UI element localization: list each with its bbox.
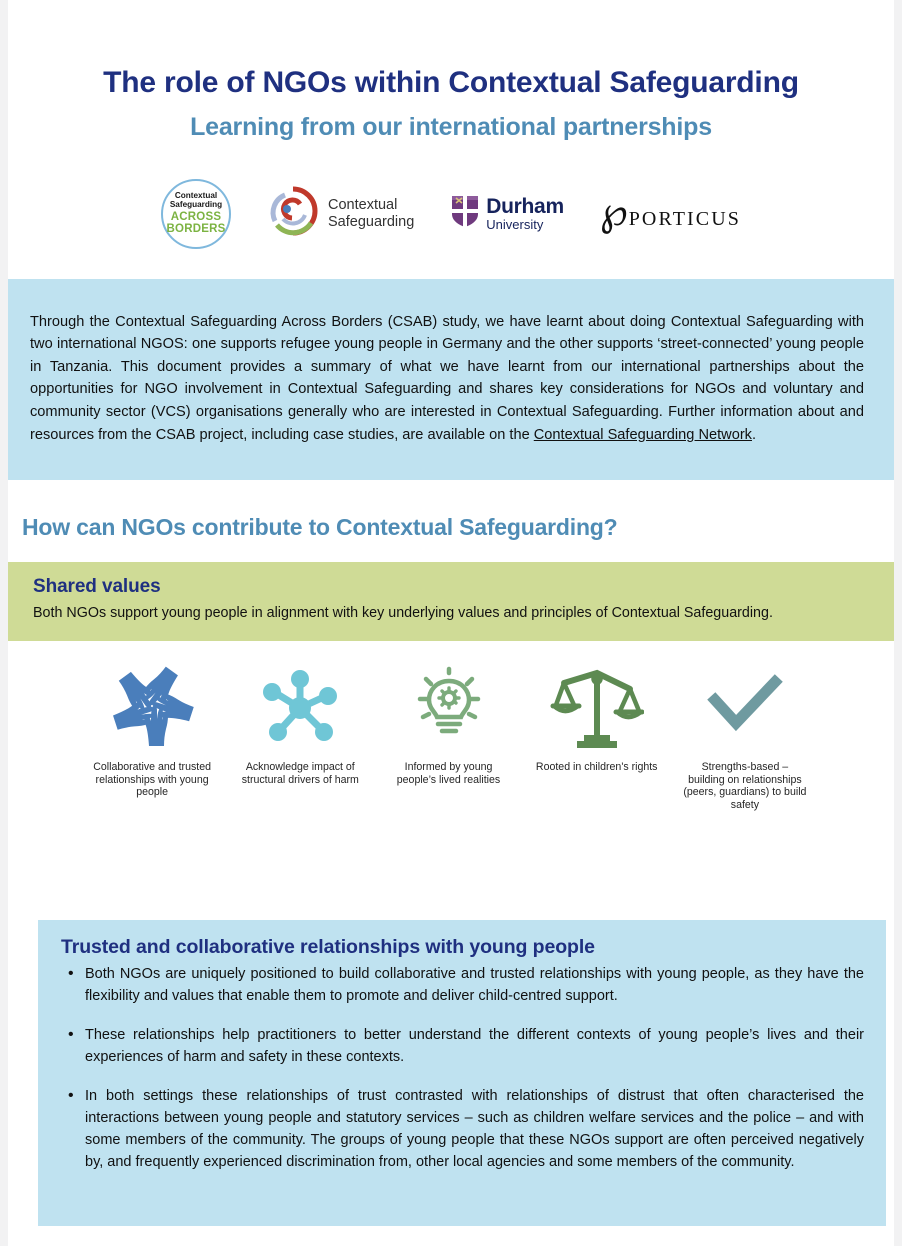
csab-line-3: ACROSS <box>171 211 221 223</box>
checkmark-icon <box>705 657 785 755</box>
partner-logos: Contextual Safeguarding ACROSS BORDERS C… <box>8 168 894 260</box>
page-title: The role of NGOs within Contextual Safeg… <box>8 66 894 101</box>
value-icons-row: Collaborative and trusted relationships … <box>8 657 894 813</box>
shared-values-band: Shared values Both NGOs support young pe… <box>8 562 894 640</box>
intro-paragraph: Through the Contextual Safeguarding Acro… <box>30 311 864 447</box>
value-icon-label: Strengths-based – building on relationsh… <box>682 761 807 813</box>
list-item: Both NGOs are uniquely positioned to bui… <box>56 963 864 1007</box>
value-icon-item: Acknowledge impact of structural drivers… <box>226 657 374 787</box>
lightbulb-gear-icon <box>406 657 492 755</box>
durham-line-2: University <box>486 218 564 232</box>
list-item: These relationships help practitioners t… <box>56 1024 864 1068</box>
scales-of-justice-icon <box>550 657 644 755</box>
document-header: The role of NGOs within Contextual Safeg… <box>8 0 894 142</box>
porticus-mark-icon: ℘ <box>600 196 628 228</box>
list-item: In both settings these relationships of … <box>56 1085 864 1173</box>
contextual-safeguarding-swirl-icon <box>267 185 319 242</box>
durham-wordmark: Durham University <box>486 196 564 232</box>
value-icon-label: Rooted in children's rights <box>536 761 658 774</box>
trusted-relationships-title: Trusted and collaborative relationships … <box>56 936 864 959</box>
shared-values-text: Both NGOs support young people in alignm… <box>33 603 793 624</box>
hands-circle-icon <box>106 657 198 755</box>
value-icon-label: Collaborative and trusted relationships … <box>90 761 215 800</box>
section-heading: How can NGOs contribute to Contextual Sa… <box>8 514 894 541</box>
value-icon-item: Rooted in children's rights <box>523 657 671 774</box>
cs-line-2: Safeguarding <box>328 214 414 230</box>
contextual-safeguarding-wordmark: Contextual Safeguarding <box>328 197 414 229</box>
csab-line-4: BORDERS <box>167 223 226 235</box>
csab-line-2: Safeguarding <box>170 201 222 210</box>
porticus-logo: ℘ PORTICUS <box>600 196 741 231</box>
value-icon-item: Collaborative and trusted relationships … <box>78 657 226 800</box>
page-subtitle: Learning from our international partners… <box>8 113 894 142</box>
trusted-relationships-box: Trusted and collaborative relationships … <box>38 920 886 1226</box>
csab-logo: Contextual Safeguarding ACROSS BORDERS <box>161 179 231 249</box>
value-icon-item: Informed by young people’s lived realiti… <box>374 657 522 787</box>
intro-text-before-link: Through the Contextual Safeguarding Acro… <box>30 314 864 443</box>
porticus-wordmark: PORTICUS <box>629 208 741 231</box>
value-icon-label: Informed by young people’s lived realiti… <box>386 761 511 787</box>
value-icon-item: Strengths-based – building on relationsh… <box>671 657 819 813</box>
contextual-safeguarding-logo: Contextual Safeguarding <box>267 185 414 242</box>
document-page: The role of NGOs within Contextual Safeg… <box>8 0 894 1246</box>
durham-line-1: Durham <box>486 196 564 218</box>
cs-line-1: Contextual <box>328 197 414 213</box>
shared-values-title: Shared values <box>33 576 874 598</box>
durham-shield-icon <box>450 194 480 233</box>
intro-text-after-link: . <box>752 427 756 443</box>
intro-band: Through the Contextual Safeguarding Acro… <box>8 279 894 481</box>
csab-badge: Contextual Safeguarding ACROSS BORDERS <box>161 179 231 249</box>
durham-university-logo: Durham University <box>450 194 564 233</box>
trusted-relationships-list: Both NGOs are uniquely positioned to bui… <box>56 963 864 1173</box>
network-hub-icon <box>258 657 342 755</box>
contextual-safeguarding-network-link[interactable]: Contextual Safeguarding Network <box>534 427 752 443</box>
value-icon-label: Acknowledge impact of structural drivers… <box>238 761 363 787</box>
